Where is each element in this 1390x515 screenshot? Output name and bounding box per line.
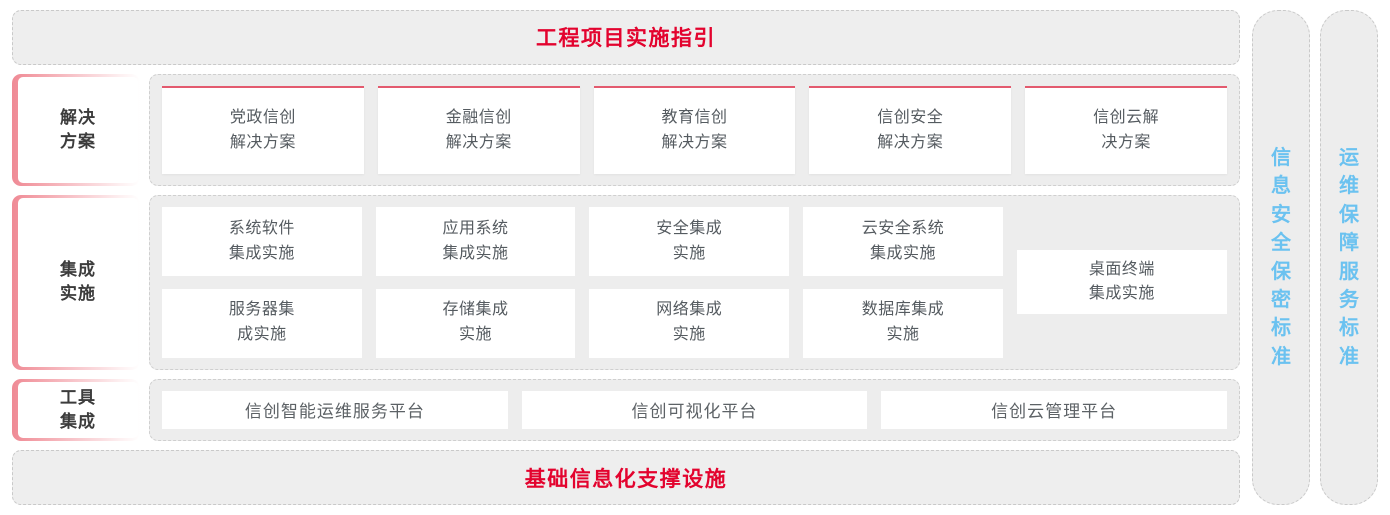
solution-card-security[interactable]: 信创安全解决方案 — [809, 86, 1011, 175]
row-label-solutions-inner: 解决 方案 — [18, 77, 138, 184]
integration-card-desktop-terminal[interactable]: 桌面终端集成实施 — [1017, 250, 1227, 314]
footer-banner: 基础信息化支撑设施 — [12, 450, 1240, 505]
row-label-integration[interactable]: 集成 实施 — [12, 195, 140, 369]
footer-title: 基础信息化支撑设施 — [525, 463, 728, 493]
integration-grid: 系统软件集成实施 应用系统集成实施 安全集成实施 云安全系统集成实施 服务器集成 — [162, 207, 1003, 357]
integration-card-server-label: 服务器集成实施 — [229, 298, 295, 348]
row-label-solutions[interactable]: 解决 方案 — [12, 74, 140, 187]
side-panel-info-security-standard-label: 信息安全保密标准 — [1269, 144, 1293, 371]
main-column: 工程项目实施指引 解决 方案 党政信创解决方案 金融信创解决方案 — [12, 10, 1240, 505]
side-panel-ops-service-standard[interactable]: 运维保障服务标准 — [1320, 10, 1378, 505]
solution-card-cloud[interactable]: 信创云解决方案 — [1025, 86, 1227, 175]
integration-card-network[interactable]: 网络集成实施 — [589, 289, 789, 358]
integration-wrap: 系统软件集成实施 应用系统集成实施 安全集成实施 云安全系统集成实施 服务器集成 — [162, 207, 1227, 357]
diagram-root: 工程项目实施指引 解决 方案 党政信创解决方案 金融信创解决方案 — [0, 0, 1390, 515]
tools-panel: 信创智能运维服务平台 信创可视化平台 信创云管理平台 — [149, 379, 1240, 442]
integration-card-storage-label: 存储集成实施 — [443, 298, 509, 348]
row-label-tools-line2: 集成 — [60, 410, 96, 434]
side-standards-column: 信息安全保密标准 运维保障服务标准 — [1252, 10, 1378, 505]
row-integration: 集成 实施 系统软件集成实施 应用系统集成实施 安全集成实施 — [12, 195, 1240, 369]
tool-card-aiops-platform-label: 信创智能运维服务平台 — [245, 397, 425, 422]
solutions-grid: 党政信创解决方案 金融信创解决方案 教育信创解决方案 信创安全解决方案 信创云解… — [162, 86, 1227, 175]
solution-card-cloud-label: 信创云解决方案 — [1093, 106, 1159, 156]
integration-card-application-system-label: 应用系统集成实施 — [443, 217, 509, 267]
side-panel-ops-service-standard-label: 运维保障服务标准 — [1337, 144, 1361, 371]
row-label-tools-line1: 工具 — [60, 386, 96, 410]
integration-card-network-label: 网络集成实施 — [656, 298, 722, 348]
row-label-integration-line2: 实施 — [60, 282, 96, 306]
integration-card-security[interactable]: 安全集成实施 — [589, 207, 789, 276]
solution-card-govt[interactable]: 党政信创解决方案 — [162, 86, 364, 175]
side-panel-info-security-standard[interactable]: 信息安全保密标准 — [1252, 10, 1310, 505]
solution-card-finance-label: 金融信创解决方案 — [446, 106, 512, 156]
row-solutions: 解决 方案 党政信创解决方案 金融信创解决方案 教育信创解决方案 — [12, 74, 1240, 187]
integration-card-cloud-security[interactable]: 云安全系统集成实施 — [803, 207, 1003, 276]
integration-card-cloud-security-label: 云安全系统集成实施 — [862, 217, 945, 267]
row-label-tools-inner: 工具 集成 — [18, 382, 138, 439]
row-label-tools[interactable]: 工具 集成 — [12, 379, 140, 442]
solution-card-security-label: 信创安全解决方案 — [877, 106, 943, 156]
integration-card-application-system[interactable]: 应用系统集成实施 — [376, 207, 576, 276]
header-banner: 工程项目实施指引 — [12, 10, 1240, 65]
row-tools: 工具 集成 信创智能运维服务平台 信创可视化平台 信创云管理平台 — [12, 379, 1240, 442]
integration-card-desktop-terminal-label: 桌面终端集成实施 — [1089, 258, 1155, 308]
tool-card-visualization-platform[interactable]: 信创可视化平台 — [522, 391, 868, 430]
tools-grid: 信创智能运维服务平台 信创可视化平台 信创云管理平台 — [162, 391, 1227, 430]
integration-panel: 系统软件集成实施 应用系统集成实施 安全集成实施 云安全系统集成实施 服务器集成 — [149, 195, 1240, 369]
tool-card-visualization-platform-label: 信创可视化平台 — [632, 397, 758, 422]
row-label-integration-line1: 集成 — [60, 258, 96, 282]
solution-card-govt-label: 党政信创解决方案 — [230, 106, 296, 156]
integration-card-database-label: 数据库集成实施 — [862, 298, 945, 348]
page-title: 工程项目实施指引 — [536, 22, 716, 52]
integration-card-system-software-label: 系统软件集成实施 — [229, 217, 295, 267]
integration-card-security-label: 安全集成实施 — [656, 217, 722, 267]
row-label-solutions-line2: 方案 — [60, 130, 96, 154]
solution-card-education-label: 教育信创解决方案 — [661, 106, 727, 156]
solution-card-finance[interactable]: 金融信创解决方案 — [378, 86, 580, 175]
row-label-integration-inner: 集成 实施 — [18, 198, 138, 366]
integration-card-database[interactable]: 数据库集成实施 — [803, 289, 1003, 358]
tool-card-cloud-management-platform[interactable]: 信创云管理平台 — [881, 391, 1227, 430]
solution-card-education[interactable]: 教育信创解决方案 — [594, 86, 796, 175]
integration-card-storage[interactable]: 存储集成实施 — [376, 289, 576, 358]
solutions-panel: 党政信创解决方案 金融信创解决方案 教育信创解决方案 信创安全解决方案 信创云解… — [149, 74, 1240, 187]
integration-card-server[interactable]: 服务器集成实施 — [162, 289, 362, 358]
integration-card-system-software[interactable]: 系统软件集成实施 — [162, 207, 362, 276]
row-label-solutions-line1: 解决 — [60, 106, 96, 130]
tool-card-cloud-management-platform-label: 信创云管理平台 — [991, 397, 1117, 422]
integration-side-wrap: 桌面终端集成实施 — [1017, 207, 1227, 357]
tool-card-aiops-platform[interactable]: 信创智能运维服务平台 — [162, 391, 508, 430]
